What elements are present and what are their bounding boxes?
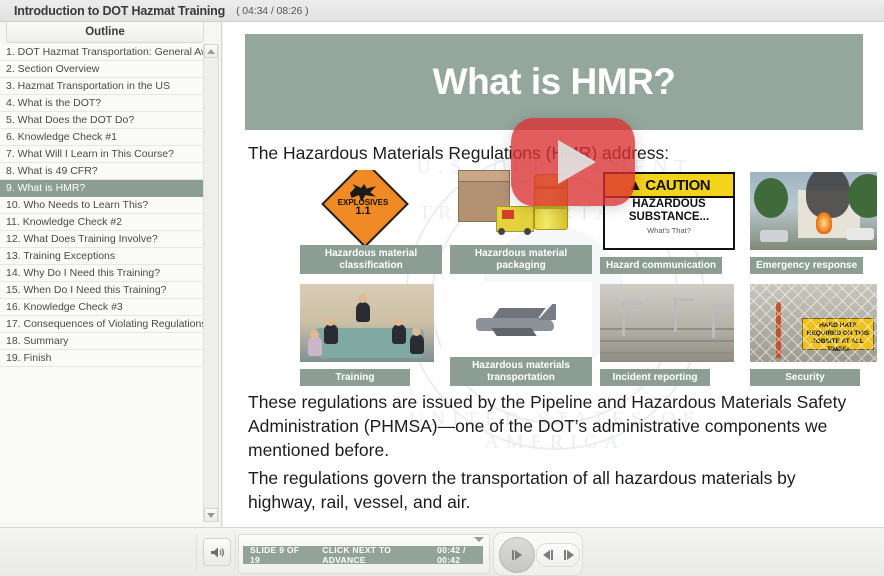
step-controls: [536, 543, 580, 567]
slide-paragraph-2: The regulations govern the transportatio…: [248, 466, 848, 514]
outline-item[interactable]: 13. Training Exceptions: [0, 248, 206, 265]
tab-outline[interactable]: Outline: [6, 22, 204, 43]
play-icon: [558, 140, 596, 184]
time-label: 00:42 / 00:42: [437, 545, 483, 565]
playback-controls: [493, 532, 583, 576]
outline-item[interactable]: 18. Summary: [0, 333, 206, 350]
speaker-icon: [210, 546, 225, 559]
outline-item[interactable]: 17. Consequences of Violating Regulation…: [0, 316, 206, 333]
caution-subtext: What's That?: [605, 226, 733, 235]
outline-item[interactable]: 14. Why Do I Need this Training?: [0, 265, 206, 282]
outline-item[interactable]: 8. What is 49 CFR?: [0, 163, 206, 180]
concept-cell-training: Training: [292, 282, 442, 386]
hazmat-placard-image: EXPLOSIVES 1.1: [292, 170, 442, 252]
concept-cell-security: HARD HATS REQUIRED ON THIS JOBSITE AT AL…: [742, 282, 877, 386]
caption-classification: Hazardous material classification: [300, 245, 442, 274]
progress-seekbar[interactable]: SLIDE 9 OF 19 CLICK NEXT TO ADVANCE 00:4…: [243, 546, 483, 564]
play-pause-icon: [512, 550, 522, 560]
slide-stage: U.S. DEPARTMENT OF TRANSPORTATION UNITED…: [223, 22, 884, 527]
outline-sidebar: Outline 1. DOT Hazmat Transportation: Ge…: [0, 22, 222, 527]
caption-security: Security: [750, 369, 860, 387]
caption-emergency-response: Emergency response: [750, 257, 863, 275]
outline-item[interactable]: 11. Knowledge Check #2: [0, 214, 206, 231]
course-title: Introduction to DOT Hazmat Training: [14, 4, 225, 18]
seekbar-panel[interactable]: SLIDE 9 OF 19 CLICK NEXT TO ADVANCE 00:4…: [238, 534, 490, 574]
outline-tab-label: Outline: [85, 26, 125, 38]
outline-item[interactable]: 2. Section Overview: [0, 61, 206, 78]
outline-scrollbar[interactable]: [203, 44, 219, 522]
outline-item[interactable]: 15. When Do I Need this Training?: [0, 282, 206, 299]
previous-slide-button[interactable]: [543, 550, 553, 560]
next-slide-button[interactable]: [564, 550, 574, 560]
outline-item[interactable]: 5. What Does the DOT Do?: [0, 112, 206, 129]
caption-training: Training: [300, 369, 410, 387]
caption-communication: Hazard communication: [600, 257, 722, 275]
placard-class: 1.1: [326, 207, 400, 216]
play-pause-button[interactable]: [499, 537, 535, 573]
course-player-window: Introduction to DOT Hazmat Training ( 04…: [0, 0, 884, 576]
cargo-airplane-image: [442, 282, 592, 364]
concept-cell-emergency: Emergency response: [742, 170, 877, 274]
slide-paragraph-1: These regulations are issued by the Pipe…: [248, 390, 848, 462]
caption-packaging: Hazardous material packaging: [450, 245, 592, 274]
outline-item[interactable]: 3. Hazmat Transportation in the US: [0, 78, 206, 95]
outline-item[interactable]: 1. DOT Hazmat Transportation: General Aw…: [0, 44, 206, 61]
slide-counter-label: SLIDE 9 OF 19: [250, 545, 302, 565]
player-toolbar: SLIDE 9 OF 19 CLICK NEXT TO ADVANCE 00:4…: [0, 527, 884, 576]
structure-fire-image: [742, 170, 877, 252]
advance-hint-label: CLICK NEXT TO ADVANCE: [322, 545, 419, 565]
slide-title: What is HMR?: [433, 61, 676, 103]
classroom-training-image: [292, 282, 442, 364]
concept-cell-incident: Incident reporting: [592, 282, 742, 386]
chevron-down-icon[interactable]: [474, 537, 484, 542]
titlebar: Introduction to DOT Hazmat Training ( 04…: [0, 0, 884, 22]
outline-item[interactable]: 19. Finish: [0, 350, 206, 367]
course-timer: ( 04:34 / 08:26 ): [236, 5, 308, 17]
concept-cell-classification: EXPLOSIVES 1.1 Hazardous material classi…: [292, 170, 442, 274]
jobsite-fence-image: HARD HATS REQUIRED ON THIS JOBSITE AT AL…: [742, 282, 877, 364]
video-play-overlay-button[interactable]: [511, 118, 635, 206]
outline-item[interactable]: 7. What Will I Learn in This Course?: [0, 146, 206, 163]
caption-incident-reporting: Incident reporting: [600, 369, 710, 387]
slide-banner: What is HMR?: [245, 34, 863, 130]
outline-item[interactable]: 4. What is the DOT?: [0, 95, 206, 112]
outline-item[interactable]: 16. Knowledge Check #3: [0, 299, 206, 316]
concept-cell-transportation: Hazardous materials transportation: [442, 282, 592, 386]
outline-item[interactable]: 10. Who Needs to Learn This?: [0, 197, 206, 214]
caution-headline: CAUTION: [645, 177, 710, 194]
outline-item[interactable]: 9. What is HMR?: [0, 180, 206, 197]
scroll-down-button[interactable]: [204, 508, 218, 522]
volume-button[interactable]: [203, 538, 231, 566]
chevron-down-icon: [207, 513, 215, 518]
slide-canvas: U.S. DEPARTMENT OF TRANSPORTATION UNITED…: [237, 30, 877, 522]
scroll-up-button[interactable]: [204, 44, 218, 58]
chevron-up-icon: [207, 49, 215, 54]
outline-item[interactable]: 12. What Does Training Involve?: [0, 231, 206, 248]
outline-list: 1. DOT Hazmat Transportation: General Aw…: [0, 44, 206, 522]
caption-transportation: Hazardous materials transportation: [450, 357, 592, 386]
railway-incident-image: [592, 282, 742, 364]
outline-item[interactable]: 6. Knowledge Check #1: [0, 129, 206, 146]
